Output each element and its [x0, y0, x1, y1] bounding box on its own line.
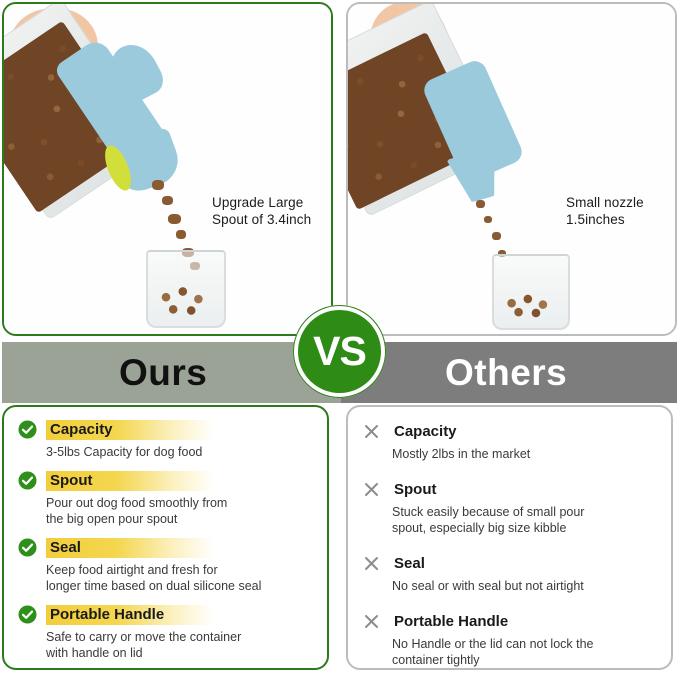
feature-title-highlight: Capacity	[46, 419, 117, 440]
feature-description: No seal or with seal but not airtight	[392, 578, 657, 594]
banner-label-others: Others	[445, 352, 567, 394]
photo-caption-others: Small nozzle 1.5inches	[566, 194, 644, 228]
feature-description: Safe to carry or move the container with…	[46, 629, 313, 661]
feature-title: Capacity	[46, 419, 117, 440]
feature-title-highlight: Spout	[46, 470, 97, 491]
kibble-stream	[168, 214, 181, 224]
cup-kibble	[500, 292, 558, 320]
kibble-stream	[176, 230, 186, 239]
feature-title: Seal	[46, 537, 85, 558]
check-circle-icon	[18, 471, 37, 490]
feature-row: Seal Keep food airtight and fresh for lo…	[18, 537, 313, 594]
photo-caption-ours: Upgrade Large Spout of 3.4inch	[212, 194, 311, 228]
feature-title: Portable Handle	[46, 604, 168, 625]
feature-title: Portable Handle	[390, 611, 512, 632]
feature-title-plain: Portable Handle	[390, 611, 512, 632]
feature-title: Spout	[46, 470, 97, 491]
feature-panel-others: Capacity Mostly 2lbs in the market Spout…	[346, 405, 673, 670]
feature-panel-ours: Capacity 3-5lbs Capacity for dog food Sp…	[2, 405, 329, 670]
feature-row: Capacity Mostly 2lbs in the market	[362, 421, 657, 462]
feature-title: Capacity	[390, 421, 461, 442]
x-mark-icon	[362, 612, 381, 631]
feature-description: 3-5lbs Capacity for dog food	[46, 444, 313, 460]
feature-description: No Handle or the lid can not lock the co…	[392, 636, 657, 668]
check-circle-icon	[18, 420, 37, 439]
check-circle-icon	[18, 538, 37, 557]
feature-description: Mostly 2lbs in the market	[392, 446, 657, 462]
x-mark-icon	[362, 422, 381, 441]
kibble-stream	[162, 196, 173, 205]
feature-description: Pour out dog food smoothly from the big …	[46, 495, 313, 527]
check-circle-icon	[18, 605, 37, 624]
kibble-stream	[492, 232, 501, 240]
product-photo-ours: Upgrade Large Spout of 3.4inch	[4, 4, 331, 334]
feature-row: Spout Pour out dog food smoothly from th…	[18, 470, 313, 527]
feature-title-highlight: Portable Handle	[46, 604, 168, 625]
kibble-stream	[152, 180, 164, 190]
x-mark-icon	[362, 554, 381, 573]
banner-label-ours: Ours	[119, 352, 207, 394]
feature-row: Spout Stuck easily because of small pour…	[362, 479, 657, 536]
kibble-stream	[476, 200, 485, 208]
banner-ours: Ours	[2, 342, 341, 403]
feature-title-plain: Capacity	[390, 421, 461, 442]
photo-panel-others: Small nozzle 1.5inches	[346, 2, 677, 336]
vs-label: VS	[313, 328, 366, 375]
feature-description: Keep food airtight and fresh for longer …	[46, 562, 313, 594]
feature-title: Seal	[390, 553, 429, 574]
feature-title-plain: Seal	[390, 553, 429, 574]
feature-title-highlight: Seal	[46, 537, 85, 558]
feature-row: Portable Handle Safe to carry or move th…	[18, 604, 313, 661]
feature-row: Capacity 3-5lbs Capacity for dog food	[18, 419, 313, 460]
x-mark-icon	[362, 480, 381, 499]
feature-title: Spout	[390, 479, 441, 500]
feature-row: Portable Handle No Handle or the lid can…	[362, 611, 657, 668]
feature-row: Seal No seal or with seal but not airtig…	[362, 553, 657, 594]
vs-badge: VS	[293, 305, 386, 398]
banner-others: Others	[341, 342, 677, 403]
feature-title-plain: Spout	[390, 479, 441, 500]
cup-kibble	[154, 282, 214, 320]
product-photo-others: Small nozzle 1.5inches	[348, 4, 675, 334]
kibble-stream	[484, 216, 492, 223]
feature-description: Stuck easily because of small pour spout…	[392, 504, 657, 536]
photo-panel-ours: Upgrade Large Spout of 3.4inch	[2, 2, 333, 336]
comparison-infographic: Upgrade Large Spout of 3.4inch Small noz…	[0, 0, 679, 683]
